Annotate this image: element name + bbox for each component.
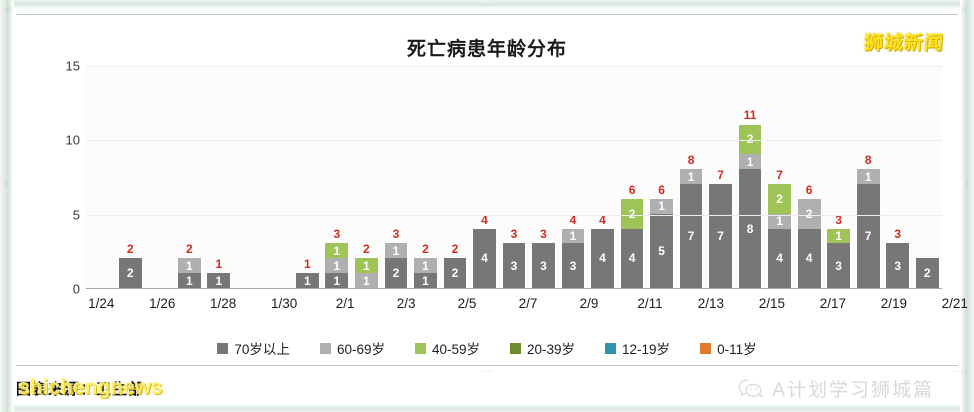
frame-edge-right: [960, 0, 974, 412]
bar-segment[interactable]: 4: [472, 229, 497, 288]
frame-rule-bottom: [16, 365, 958, 366]
bar-total-label: 1: [293, 257, 323, 271]
bar-column[interactable]: [263, 66, 293, 288]
bar-stack[interactable]: 31: [561, 229, 586, 288]
legend-label: 20-39岁: [527, 338, 575, 358]
legend-item[interactable]: 12-19岁: [605, 338, 670, 358]
bar-column[interactable]: 2: [912, 66, 942, 288]
bar-column[interactable]: 112: [352, 66, 382, 288]
bar-column[interactable]: 77: [706, 66, 736, 288]
x-tick-blank: ·: [360, 296, 390, 318]
grip-dots-icon: ⁞⁞: [962, 8, 968, 13]
bar-column[interactable]: 4127: [765, 66, 795, 288]
x-tick-1-28: 1/28: [208, 296, 238, 318]
bar-segment[interactable]: 1: [177, 273, 202, 288]
bar-segment[interactable]: 3: [531, 243, 556, 288]
bar-stack[interactable]: 111: [324, 243, 349, 288]
chart-card: 死亡病患年龄分布 狮城新闻 051015 2211211111113112213…: [18, 16, 956, 356]
legend-label: 12-19岁: [622, 338, 670, 358]
x-tick-blank: ·: [116, 296, 146, 318]
grip-dots-icon: ····: [480, 369, 493, 374]
legend-item[interactable]: 60-69岁: [320, 338, 385, 358]
grip-dots-icon: ····: [955, 369, 968, 374]
frame-edge-left: [0, 0, 14, 412]
bar-column[interactable]: [145, 66, 175, 288]
x-axis-tick-labels: 1/24·1/26·1/28·1/30·2/1·2/3·2/5·2/7·2/9·…: [86, 296, 970, 318]
x-tick-blank: ·: [665, 296, 695, 318]
bar-segment[interactable]: 1: [649, 199, 674, 214]
bar-column[interactable]: 11: [204, 66, 234, 288]
y-tick-15: 15: [66, 59, 80, 74]
bar-segment[interactable]: 1: [324, 273, 349, 288]
grip-dots-icon: ⁞: [5, 183, 8, 186]
gridline-5: [86, 215, 942, 216]
swatch-12-icon: [605, 343, 616, 354]
bar-series-container: 2211211111113112213112224433333144442651…: [86, 66, 942, 288]
grip-dots-icon: ⁞⁞: [6, 8, 12, 13]
bar-segment[interactable]: 1: [413, 273, 438, 288]
bar-column[interactable]: 1113: [322, 66, 352, 288]
bar-segment[interactable]: 1: [324, 258, 349, 273]
x-tick-1-26: 1/26: [147, 296, 177, 318]
bar-segment[interactable]: 1: [738, 154, 763, 169]
grip-dots-icon: ····: [480, 4, 493, 9]
bar-column[interactable]: 313: [824, 66, 854, 288]
x-tick-2-5: 2/5: [452, 296, 482, 318]
watermark-top-right: 狮城新闻: [863, 28, 945, 55]
bar-segment[interactable]: 1: [561, 229, 586, 244]
bar-segment[interactable]: 3: [885, 243, 910, 288]
x-tick-2-19: 2/19: [879, 296, 909, 318]
bar-total-label: 2: [352, 242, 382, 256]
source-watermark-en: shichengnews: [18, 376, 163, 400]
swatch-70-icon: [217, 343, 228, 354]
bar-segment[interactable]: 1: [354, 258, 379, 273]
bar-total-label: 7: [706, 168, 736, 182]
bar-segment[interactable]: 8: [738, 169, 763, 288]
x-tick-blank: ·: [726, 296, 756, 318]
swatch-40-icon: [415, 343, 426, 354]
bar-segment[interactable]: 3: [502, 243, 527, 288]
bar-stack[interactable]: 42: [797, 199, 822, 288]
bar-segment[interactable]: 7: [708, 184, 733, 288]
x-tick-2-15: 2/15: [757, 296, 787, 318]
y-axis-tick-labels: 051015: [58, 66, 84, 289]
bar-total-label: 3: [883, 227, 913, 241]
bar-column[interactable]: 44: [588, 66, 618, 288]
plot-area-wrapper: 051015 221121111111311221311222443333314…: [58, 66, 942, 289]
x-tick-2-13: 2/13: [696, 296, 726, 318]
bar-column[interactable]: 33: [499, 66, 529, 288]
bar-total-label: 7: [765, 168, 795, 182]
x-tick-1-24: 1/24: [86, 296, 116, 318]
bar-segment[interactable]: 4: [590, 229, 615, 288]
bar-stack[interactable]: 2: [443, 258, 468, 288]
bar-column[interactable]: 22: [116, 66, 146, 288]
chart-source-note: 图表来源：卫生部 shichengnews: [16, 372, 316, 404]
legend-item[interactable]: 0-11岁: [700, 338, 757, 358]
bar-segment[interactable]: 1: [384, 243, 409, 258]
x-tick-2-7: 2/7: [513, 296, 543, 318]
bar-stack[interactable]: 3: [885, 243, 910, 288]
bar-total-label: 3: [322, 227, 352, 241]
bar-stack[interactable]: 71: [679, 169, 704, 288]
bar-total-label: 6: [617, 183, 647, 197]
swatch-20-icon: [510, 343, 521, 354]
bar-column[interactable]: 11: [293, 66, 323, 288]
page-title: 死亡病患年龄分布: [18, 34, 956, 61]
bar-stack[interactable]: 7: [708, 184, 733, 288]
bar-column[interactable]: [234, 66, 264, 288]
bar-segment[interactable]: 7: [679, 184, 704, 288]
bar-segment[interactable]: 1: [679, 169, 704, 184]
bar-segment[interactable]: 2: [384, 258, 409, 288]
swatch-60-icon: [320, 343, 331, 354]
bar-column[interactable]: 718: [676, 66, 706, 288]
bar-column[interactable]: 33: [529, 66, 559, 288]
y-tick-10: 10: [66, 133, 80, 148]
bar-column[interactable]: 112: [411, 66, 441, 288]
bar-segment[interactable]: 1: [354, 273, 379, 288]
bar-stack[interactable]: 11: [354, 258, 379, 288]
bar-stack[interactable]: 2: [118, 258, 143, 288]
legend-label: 40-59岁: [432, 338, 480, 358]
bar-column[interactable]: 112: [175, 66, 205, 288]
bar-segment[interactable]: 1: [295, 273, 320, 288]
plot-area: 2211211111113112213112224433333144442651…: [86, 66, 942, 289]
x-tick-2-11: 2/11: [635, 296, 665, 318]
bar-segment[interactable]: 1: [767, 214, 792, 229]
bar-segment[interactable]: 1: [177, 258, 202, 273]
gridline-10: [86, 140, 942, 141]
bar-segment[interactable]: 5: [649, 214, 674, 288]
bar-stack[interactable]: 1: [295, 273, 320, 288]
bar-column[interactable]: [86, 66, 116, 288]
bar-total-label: 1: [204, 257, 234, 271]
bar-total-label: 3: [381, 227, 411, 241]
bar-stack[interactable]: 42: [620, 199, 645, 288]
bar-total-label: 2: [440, 242, 470, 256]
frame-rule-top: [16, 14, 958, 15]
bar-total-label: 2: [116, 242, 146, 256]
x-tick-2-21: 2/21: [940, 296, 970, 318]
x-tick-2-3: 2/3: [391, 296, 421, 318]
bar-column[interactable]: 718: [853, 66, 883, 288]
bar-column[interactable]: 44: [470, 66, 500, 288]
bar-total-label: 3: [499, 227, 529, 241]
x-tick-blank: ·: [909, 296, 939, 318]
legend-item[interactable]: 70岁以上: [217, 338, 290, 358]
bar-stack[interactable]: 412: [767, 184, 792, 288]
legend-item[interactable]: 20-39岁: [510, 338, 575, 358]
wechat-account-footer: A计划学习狮城篇: [738, 375, 934, 402]
y-tick-5: 5: [73, 207, 80, 222]
bar-column[interactable]: 81211: [735, 66, 765, 288]
bar-segment[interactable]: 2: [767, 184, 792, 214]
x-tick-blank: ·: [238, 296, 268, 318]
bar-stack[interactable]: 21: [384, 243, 409, 288]
x-tick-blank: ·: [543, 296, 573, 318]
bar-stack[interactable]: 3: [531, 243, 556, 288]
bar-segment[interactable]: 2: [118, 258, 143, 288]
bar-segment[interactable]: 3: [561, 243, 586, 288]
wechat-account-name: A计划学习狮城篇: [772, 375, 934, 402]
bar-segment[interactable]: 1: [324, 243, 349, 258]
bar-column[interactable]: 314: [558, 66, 588, 288]
bar-column[interactable]: 516: [647, 66, 677, 288]
x-tick-1-30: 1/30: [269, 296, 299, 318]
bar-total-label: 8: [853, 153, 883, 167]
wechat-icon: [738, 378, 764, 400]
x-tick-2-17: 2/17: [818, 296, 848, 318]
grip-dots-icon: ⁞: [966, 183, 969, 186]
bar-stack[interactable]: 3: [502, 243, 527, 288]
bar-column[interactable]: 213: [381, 66, 411, 288]
chart-legend: 70岁以上60-69岁40-59岁20-39岁12-19岁0-11岁: [18, 338, 956, 358]
x-tick-2-1: 2/1: [330, 296, 360, 318]
bar-stack[interactable]: 812: [738, 125, 763, 289]
bar-segment[interactable]: 1: [826, 229, 851, 244]
x-tick-2-9: 2/9: [574, 296, 604, 318]
x-tick-blank: ·: [848, 296, 878, 318]
bar-stack[interactable]: 51: [649, 199, 674, 288]
bar-stack[interactable]: 31: [826, 229, 851, 288]
x-tick-blank: ·: [421, 296, 451, 318]
bar-segment[interactable]: 2: [915, 258, 940, 288]
bar-stack[interactable]: 1: [206, 273, 231, 288]
gridline-15: [86, 66, 942, 67]
legend-label: 70岁以上: [234, 338, 290, 358]
bar-stack[interactable]: 2: [915, 258, 940, 288]
bar-segment[interactable]: 1: [206, 273, 231, 288]
frame-edge-bottom: [0, 404, 974, 412]
x-tick-blank: ·: [177, 296, 207, 318]
bar-segment[interactable]: 4: [797, 229, 822, 288]
bar-segment[interactable]: 3: [826, 243, 851, 288]
bar-segment[interactable]: 2: [443, 258, 468, 288]
bar-total-label: 2: [175, 242, 205, 256]
x-tick-blank: ·: [299, 296, 329, 318]
bar-stack[interactable]: 71: [856, 169, 881, 288]
bar-segment[interactable]: 4: [767, 229, 792, 288]
bar-stack[interactable]: 4: [472, 229, 497, 288]
bar-segment[interactable]: 4: [620, 229, 645, 288]
bar-segment[interactable]: 1: [856, 169, 881, 184]
legend-label: 0-11岁: [717, 338, 757, 358]
bar-total-label: 8: [676, 153, 706, 167]
bar-stack[interactable]: 4: [590, 229, 615, 288]
bar-total-label: 2: [411, 242, 441, 256]
x-tick-blank: ·: [482, 296, 512, 318]
bar-stack[interactable]: 11: [177, 258, 202, 288]
bar-total-label: 6: [794, 183, 824, 197]
bar-stack[interactable]: 11: [413, 258, 438, 288]
legend-item[interactable]: 40-59岁: [415, 338, 480, 358]
bar-total-label: 3: [529, 227, 559, 241]
y-tick-0: 0: [73, 282, 80, 297]
bar-column[interactable]: 426: [794, 66, 824, 288]
bar-column[interactable]: 426: [617, 66, 647, 288]
x-tick-blank: ·: [787, 296, 817, 318]
bar-column[interactable]: 33: [883, 66, 913, 288]
bar-segment[interactable]: 7: [856, 184, 881, 288]
legend-label: 60-69岁: [337, 338, 385, 358]
bar-column[interactable]: 22: [440, 66, 470, 288]
bar-total-label: 6: [647, 183, 677, 197]
bar-segment[interactable]: 1: [413, 258, 438, 273]
bar-total-label: 11: [735, 108, 765, 122]
swatch-0-icon: [700, 343, 711, 354]
x-tick-blank: ·: [604, 296, 634, 318]
